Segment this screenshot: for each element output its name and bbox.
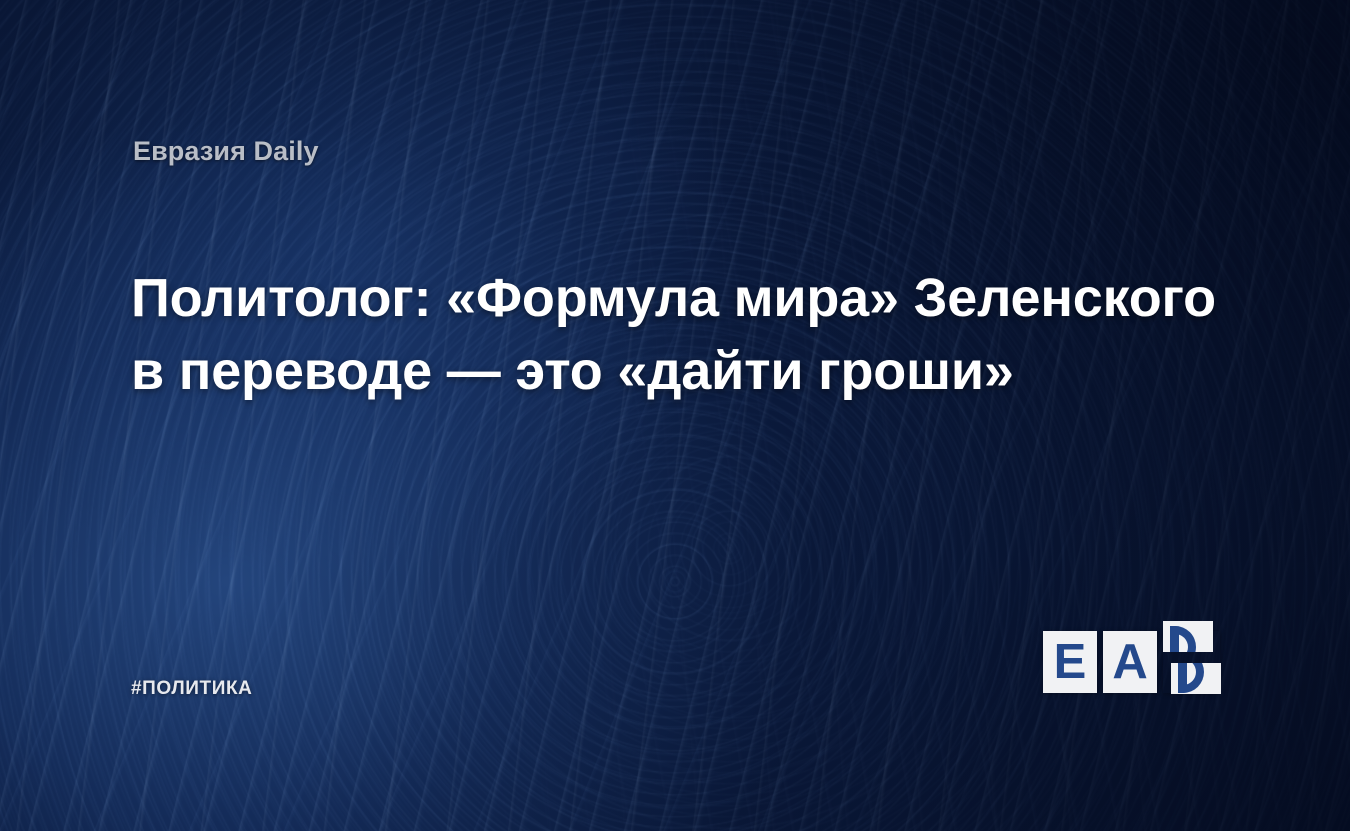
ead-logo-tile-d xyxy=(1163,631,1220,693)
ead-letter-d-upper xyxy=(1163,621,1213,652)
ead-letter-d-lower xyxy=(1171,663,1221,694)
ead-letter-e: E xyxy=(1043,631,1097,693)
ead-logo-tile-e: E xyxy=(1043,631,1097,693)
site-logo-text: Евразия Daily xyxy=(133,136,319,167)
d-curve-icon xyxy=(1170,626,1196,652)
headline-line-1: Политолог: «Формула мира» Зеленского xyxy=(131,262,1241,335)
page-title: Политолог: «Формула мира» Зеленского в п… xyxy=(131,262,1241,409)
ead-logo: E A xyxy=(1043,631,1220,693)
news-card: Евразия Daily Политолог: «Формула мира» … xyxy=(0,0,1350,831)
headline-line-2: в переводе — это «дайти гроши» xyxy=(131,335,1241,408)
category-tag[interactable]: #ПОЛИТИКА xyxy=(131,678,253,700)
card-content: Евразия Daily Политолог: «Формула мира» … xyxy=(0,0,1350,831)
ead-letter-a: A xyxy=(1103,631,1157,693)
d-curve-icon xyxy=(1178,663,1204,693)
ead-logo-tile-a: A xyxy=(1103,631,1157,693)
